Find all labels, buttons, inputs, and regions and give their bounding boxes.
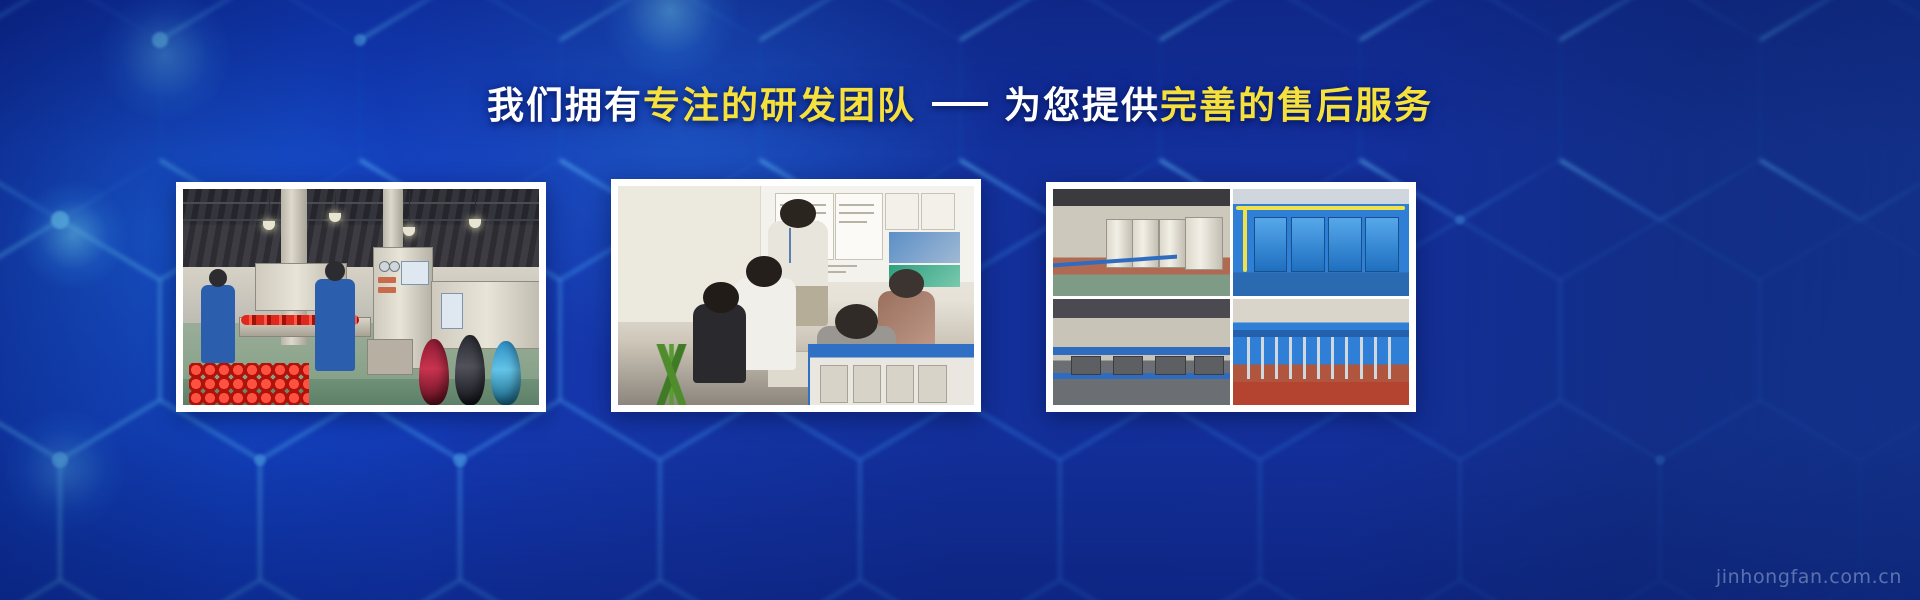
oven-label — [441, 293, 463, 329]
equipment-collage — [1053, 189, 1409, 405]
site-watermark: jinhongfan.com.cn — [1716, 566, 1902, 588]
roof-truss-1 — [183, 202, 539, 204]
machine-module-3 — [886, 365, 914, 404]
lamp-stem-3 — [409, 193, 410, 229]
coating-unit-3 — [1159, 219, 1186, 268]
cabinet-button-row-2 — [378, 287, 396, 293]
conveyor-cart-1 — [1071, 356, 1101, 375]
coating-unit-4 — [1185, 217, 1222, 270]
promo-banner: 我们拥有专注的研发团队为您提供完善的售后服务 — [0, 0, 1920, 600]
seated-woman-left-head — [703, 282, 739, 313]
conveyor-cart-2 — [1113, 356, 1143, 375]
poster-text-line-5 — [839, 212, 875, 214]
hanger-9 — [1360, 337, 1363, 380]
poster-photo-patch-1 — [889, 232, 960, 263]
headline-segment-3: 为您提供 — [1004, 85, 1160, 126]
yellow-pipe-top — [1236, 206, 1405, 210]
hanger-3 — [1275, 337, 1278, 380]
photo-panel-2[interactable] — [611, 179, 981, 412]
lamp-stem-2 — [335, 193, 336, 215]
factory-production-line-photo — [183, 189, 539, 405]
presenter-lanyard — [789, 228, 791, 263]
conveyor-cart-3 — [1155, 356, 1185, 375]
machine-module-2 — [853, 365, 881, 404]
headline-segment-2: 专注的研发团队 — [643, 85, 916, 126]
presenter-head — [780, 199, 816, 227]
yellow-pipe-riser — [1243, 206, 1247, 272]
poster-text-line-6 — [839, 221, 867, 223]
machine-photo-inset — [808, 344, 974, 405]
red-ball-stack — [189, 363, 309, 405]
worker-center-head — [325, 261, 345, 281]
blue-tank-1 — [1254, 217, 1288, 272]
technical-meeting-photo — [618, 186, 974, 405]
red-floor-band — [1233, 382, 1410, 405]
worker-left-head — [209, 269, 227, 287]
palm-plant — [625, 344, 718, 405]
hanger-10 — [1374, 337, 1377, 380]
hanger-2 — [1261, 337, 1264, 380]
headline-segment-4: 完善的售后服务 — [1160, 85, 1433, 126]
collage-cell-blue-tank-line — [1233, 189, 1410, 296]
hanger-6 — [1317, 337, 1320, 380]
headline-segment-1: 我们拥有 — [487, 85, 643, 126]
photo-panel-1[interactable] — [176, 182, 546, 412]
parts-crate — [367, 339, 413, 375]
blue-tank-4 — [1365, 217, 1399, 272]
product-vase-red — [419, 339, 449, 405]
worker-center-body — [315, 279, 355, 371]
hanger-1 — [1247, 337, 1250, 380]
seated-man-head — [746, 256, 782, 287]
woman-right-head — [889, 269, 925, 297]
product-vase-blue — [491, 341, 521, 405]
poster-4 — [921, 193, 955, 230]
conveyor-rail-upper — [1053, 347, 1230, 354]
collage-cell-hanging-line — [1233, 299, 1410, 406]
hanger-5 — [1303, 337, 1306, 380]
blue-tank-2 — [1291, 217, 1325, 272]
collage-cell-conveyor — [1053, 299, 1230, 406]
lamp-stem-4 — [475, 193, 476, 221]
cabinet-button-row-1 — [378, 277, 396, 283]
poster-3 — [885, 193, 919, 230]
hanger-7 — [1331, 337, 1334, 380]
man-back-head — [835, 304, 878, 339]
roof-truss-2 — [183, 219, 539, 221]
overhead-beam — [1233, 330, 1410, 336]
headline-separator — [932, 102, 988, 106]
hanger-4 — [1289, 337, 1292, 380]
conveyor-cart-4 — [1194, 356, 1224, 375]
machine-module-4 — [918, 365, 946, 404]
hanger-8 — [1345, 337, 1348, 380]
hanger-11 — [1388, 337, 1391, 380]
collage-cell-coating-line — [1053, 189, 1230, 296]
blue-tank-3 — [1328, 217, 1362, 272]
lamp-stem-1 — [269, 193, 270, 223]
photo-panel-3[interactable] — [1046, 182, 1416, 412]
worker-left-body — [201, 285, 235, 363]
machine-module-1 — [820, 365, 848, 404]
headline: 我们拥有专注的研发团队为您提供完善的售后服务 — [0, 83, 1920, 129]
cabinet-dial-2 — [389, 261, 400, 272]
cabinet-display — [401, 261, 429, 285]
poster-text-line-4 — [839, 204, 875, 206]
